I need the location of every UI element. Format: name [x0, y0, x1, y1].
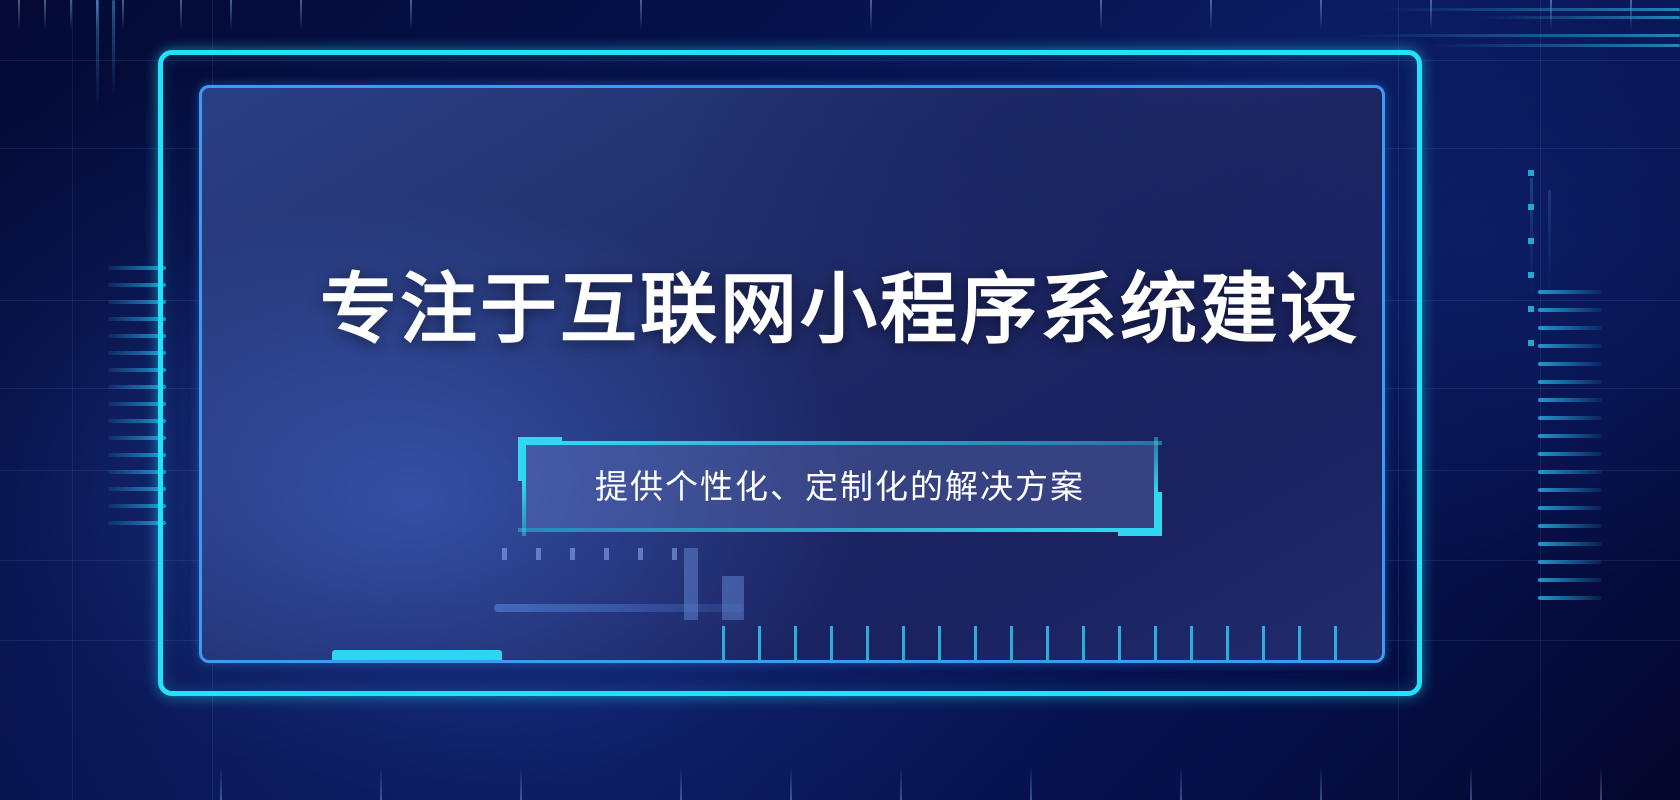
- banner-stage: 专注于互联网小程序系统建设 提供个性化、定制化的解决方案: [0, 0, 1680, 800]
- banner-content: 专注于互联网小程序系统建设 提供个性化、定制化的解决方案: [0, 0, 1680, 800]
- subtitle-frame: 提供个性化、定制化的解决方案: [526, 445, 1154, 529]
- page-title: 专注于互联网小程序系统建设: [320, 272, 1360, 349]
- subtitle-edge-bottom: [518, 528, 1118, 532]
- subtitle-box: 提供个性化、定制化的解决方案: [526, 445, 1154, 529]
- subtitle-edge-right: [1154, 437, 1158, 493]
- subtitle-text: 提供个性化、定制化的解决方案: [595, 468, 1085, 505]
